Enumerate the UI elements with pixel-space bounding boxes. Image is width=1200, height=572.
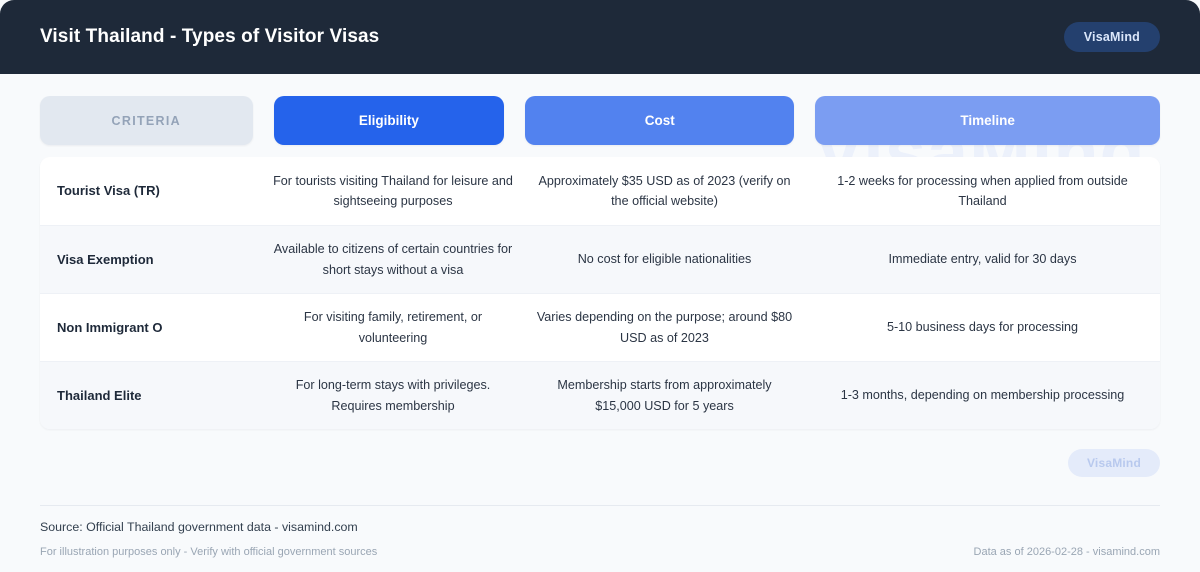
cell-eligibility: For visiting family, retirement, or volu… [262, 295, 524, 360]
table-row[interactable]: Non Immigrant O For visiting family, ret… [40, 293, 1160, 361]
table-row[interactable]: Visa Exemption Available to citizens of … [40, 225, 1160, 293]
cell-eligibility: For long-term stays with privileges. Req… [262, 363, 524, 428]
table-header-row: CRITERIA Eligibility Cost Timeline [40, 96, 1160, 145]
cell-criteria: Visa Exemption [40, 237, 262, 282]
cell-timeline: 1-2 weeks for processing when applied fr… [805, 159, 1160, 224]
watermark-pill-area: VisaMind [40, 429, 1160, 495]
table-container: CRITERIA Eligibility Cost Timeline Touri… [0, 74, 1200, 495]
cell-eligibility: For tourists visiting Thailand for leisu… [262, 159, 524, 224]
table-body: Tourist Visa (TR) For tourists visiting … [40, 157, 1160, 429]
column-header-cost[interactable]: Cost [525, 96, 794, 145]
visa-comparison-card: Visit Thailand - Types of Visitor Visas … [0, 0, 1200, 572]
brand-badge: VisaMind [1064, 22, 1160, 52]
cell-criteria: Non Immigrant O [40, 305, 262, 350]
cell-timeline: 1-3 months, depending on membership proc… [805, 373, 1160, 417]
watermark-badge: VisaMind [1068, 449, 1160, 477]
table-row[interactable]: Thailand Elite For long-term stays with … [40, 361, 1160, 429]
footer-disclaimer: For illustration purposes only - Verify … [40, 546, 377, 558]
cell-cost: Membership starts from approximately $15… [524, 363, 805, 428]
column-header-eligibility[interactable]: Eligibility [274, 96, 505, 145]
cell-cost: Approximately $35 USD as of 2023 (verify… [524, 159, 805, 224]
cell-timeline: Immediate entry, valid for 30 days [805, 237, 1160, 281]
cell-criteria: Thailand Elite [40, 373, 262, 418]
cell-criteria: Tourist Visa (TR) [40, 168, 262, 213]
footer-as-of: Data as of 2026-02-28 - visamind.com [974, 546, 1160, 558]
footer-bottom-row: For illustration purposes only - Verify … [40, 546, 1160, 558]
footer-source: Source: Official Thailand government dat… [40, 520, 1160, 534]
cell-cost: Varies depending on the purpose; around … [524, 295, 805, 360]
table-row[interactable]: Tourist Visa (TR) For tourists visiting … [40, 157, 1160, 225]
column-header-criteria[interactable]: CRITERIA [40, 96, 253, 145]
cell-eligibility: Available to citizens of certain countri… [262, 227, 524, 292]
cell-timeline: 5-10 business days for processing [805, 305, 1160, 349]
header-bar: Visit Thailand - Types of Visitor Visas … [0, 0, 1200, 74]
footer: Source: Official Thailand government dat… [40, 505, 1160, 558]
page-title: Visit Thailand - Types of Visitor Visas [40, 26, 379, 48]
cell-cost: No cost for eligible nationalities [524, 237, 805, 281]
column-header-timeline[interactable]: Timeline [815, 96, 1160, 145]
